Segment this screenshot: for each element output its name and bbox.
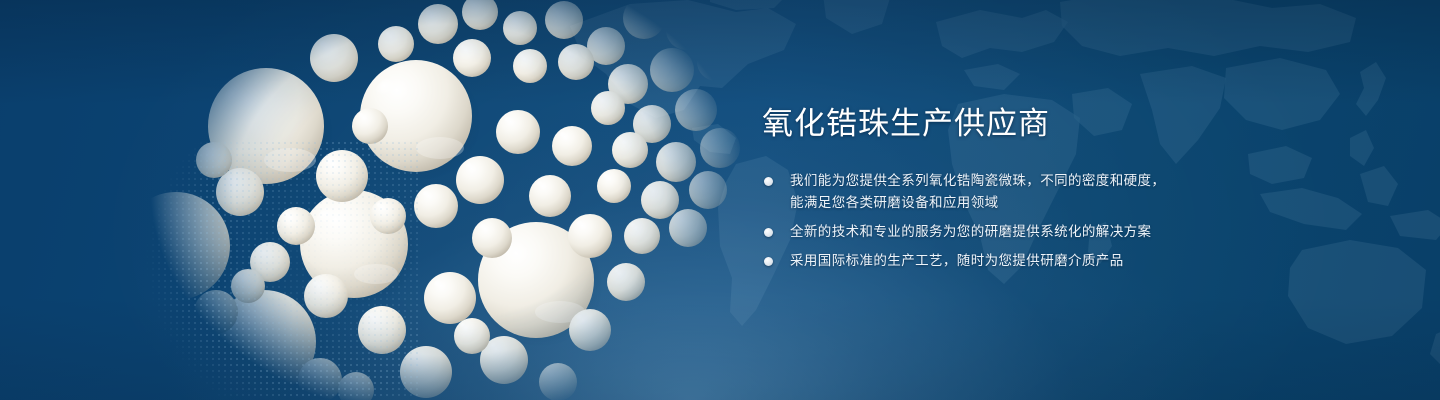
bullet-text-line-1: 采用国际标准的生产工艺，随时为您提供研磨介质产品 [790,250,1222,272]
bullet-dot-icon [764,177,773,186]
list-item: 全新的技术和专业的服务为您的研磨提供系统化的解决方案 [762,221,1222,243]
page-title: 氧化锆珠生产供应商 [762,104,1222,144]
bullet-dot-icon [764,228,773,237]
list-item: 采用国际标准的生产工艺，随时为您提供研磨介质产品 [762,250,1222,272]
zirconia-beads-photo [120,0,740,400]
bullet-text-line-1: 我们能为您提供全系列氧化锆陶瓷微珠，不同的密度和硬度， [790,170,1222,192]
hero-banner: 氧化锆珠生产供应商 我们能为您提供全系列氧化锆陶瓷微珠，不同的密度和硬度， 能满… [0,0,1440,400]
list-item: 我们能为您提供全系列氧化锆陶瓷微珠，不同的密度和硬度， 能满足您各类研磨设备和应… [762,170,1222,214]
bullet-text-line-1: 全新的技术和专业的服务为您的研磨提供系统化的解决方案 [790,221,1222,243]
banner-copy-block: 氧化锆珠生产供应商 我们能为您提供全系列氧化锆陶瓷微珠，不同的密度和硬度， 能满… [762,104,1222,272]
bullet-text-line-2: 能满足您各类研磨设备和应用领域 [790,192,1222,214]
bullet-dot-icon [764,257,773,266]
feature-bullet-list: 我们能为您提供全系列氧化锆陶瓷微珠，不同的密度和硬度， 能满足您各类研磨设备和应… [762,170,1222,272]
